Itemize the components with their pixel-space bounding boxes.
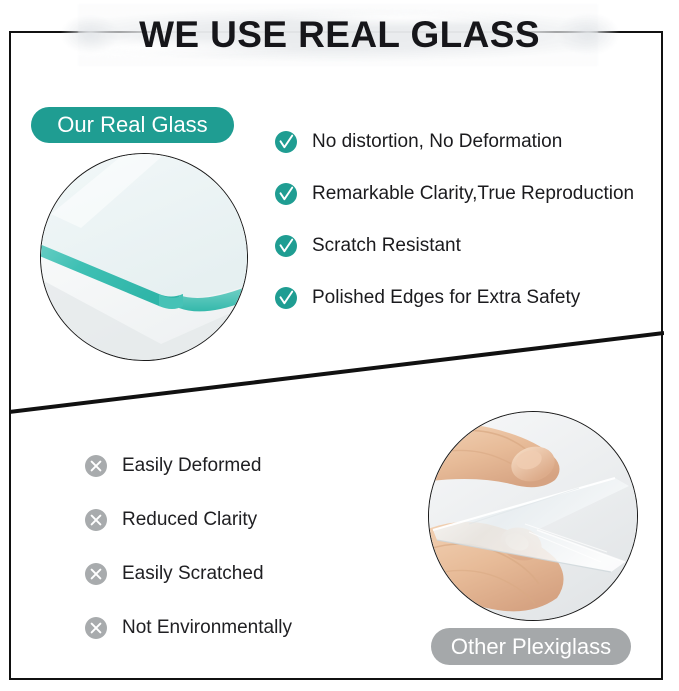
badge-other-plexiglass-label: Other Plexiglass	[451, 636, 611, 658]
list-item: Easily Scratched	[84, 560, 414, 588]
badge-other-plexiglass: Other Plexiglass	[431, 628, 631, 665]
x-circle-icon	[84, 616, 108, 640]
x-circle-icon	[84, 562, 108, 586]
list-item: Scratch Resistant	[274, 232, 674, 260]
list-item-label: Reduced Clarity	[122, 508, 257, 532]
advantages-list: No distortion, No Deformation Remarkable…	[274, 128, 674, 336]
list-item-label: Not Environmentally	[122, 616, 292, 640]
list-item-label: Easily Deformed	[122, 454, 261, 478]
list-item: Easily Deformed	[84, 452, 414, 480]
photo-real-glass	[40, 153, 248, 361]
badge-our-real-glass-label: Our Real Glass	[57, 114, 207, 136]
page-title: WE USE REAL GLASS	[0, 13, 679, 57]
list-item-label: No distortion, No Deformation	[312, 130, 562, 154]
badge-our-real-glass: Our Real Glass	[31, 107, 234, 143]
list-item: No distortion, No Deformation	[274, 128, 674, 156]
list-item-label: Easily Scratched	[122, 562, 264, 586]
check-circle-icon	[274, 130, 298, 154]
title-banner: WE USE REAL GLASS	[0, 0, 679, 72]
x-circle-icon	[84, 454, 108, 478]
photo-plexiglass	[428, 411, 638, 621]
list-item: Not Environmentally	[84, 614, 414, 642]
list-item: Polished Edges for Extra Safety	[274, 284, 674, 312]
check-circle-icon	[274, 234, 298, 258]
x-circle-icon	[84, 508, 108, 532]
list-item: Reduced Clarity	[84, 506, 414, 534]
disadvantages-list: Easily Deformed Reduced Clarity Easily S…	[84, 452, 414, 668]
list-item-label: Scratch Resistant	[312, 234, 461, 258]
list-item: Remarkable Clarity,True Reproduction	[274, 180, 674, 208]
comparison-infographic: WE USE REAL GLASS Our Real Glass	[0, 0, 679, 691]
check-circle-icon	[274, 286, 298, 310]
check-circle-icon	[274, 182, 298, 206]
list-item-label: Remarkable Clarity,True Reproduction	[312, 182, 634, 206]
list-item-label: Polished Edges for Extra Safety	[312, 286, 580, 310]
